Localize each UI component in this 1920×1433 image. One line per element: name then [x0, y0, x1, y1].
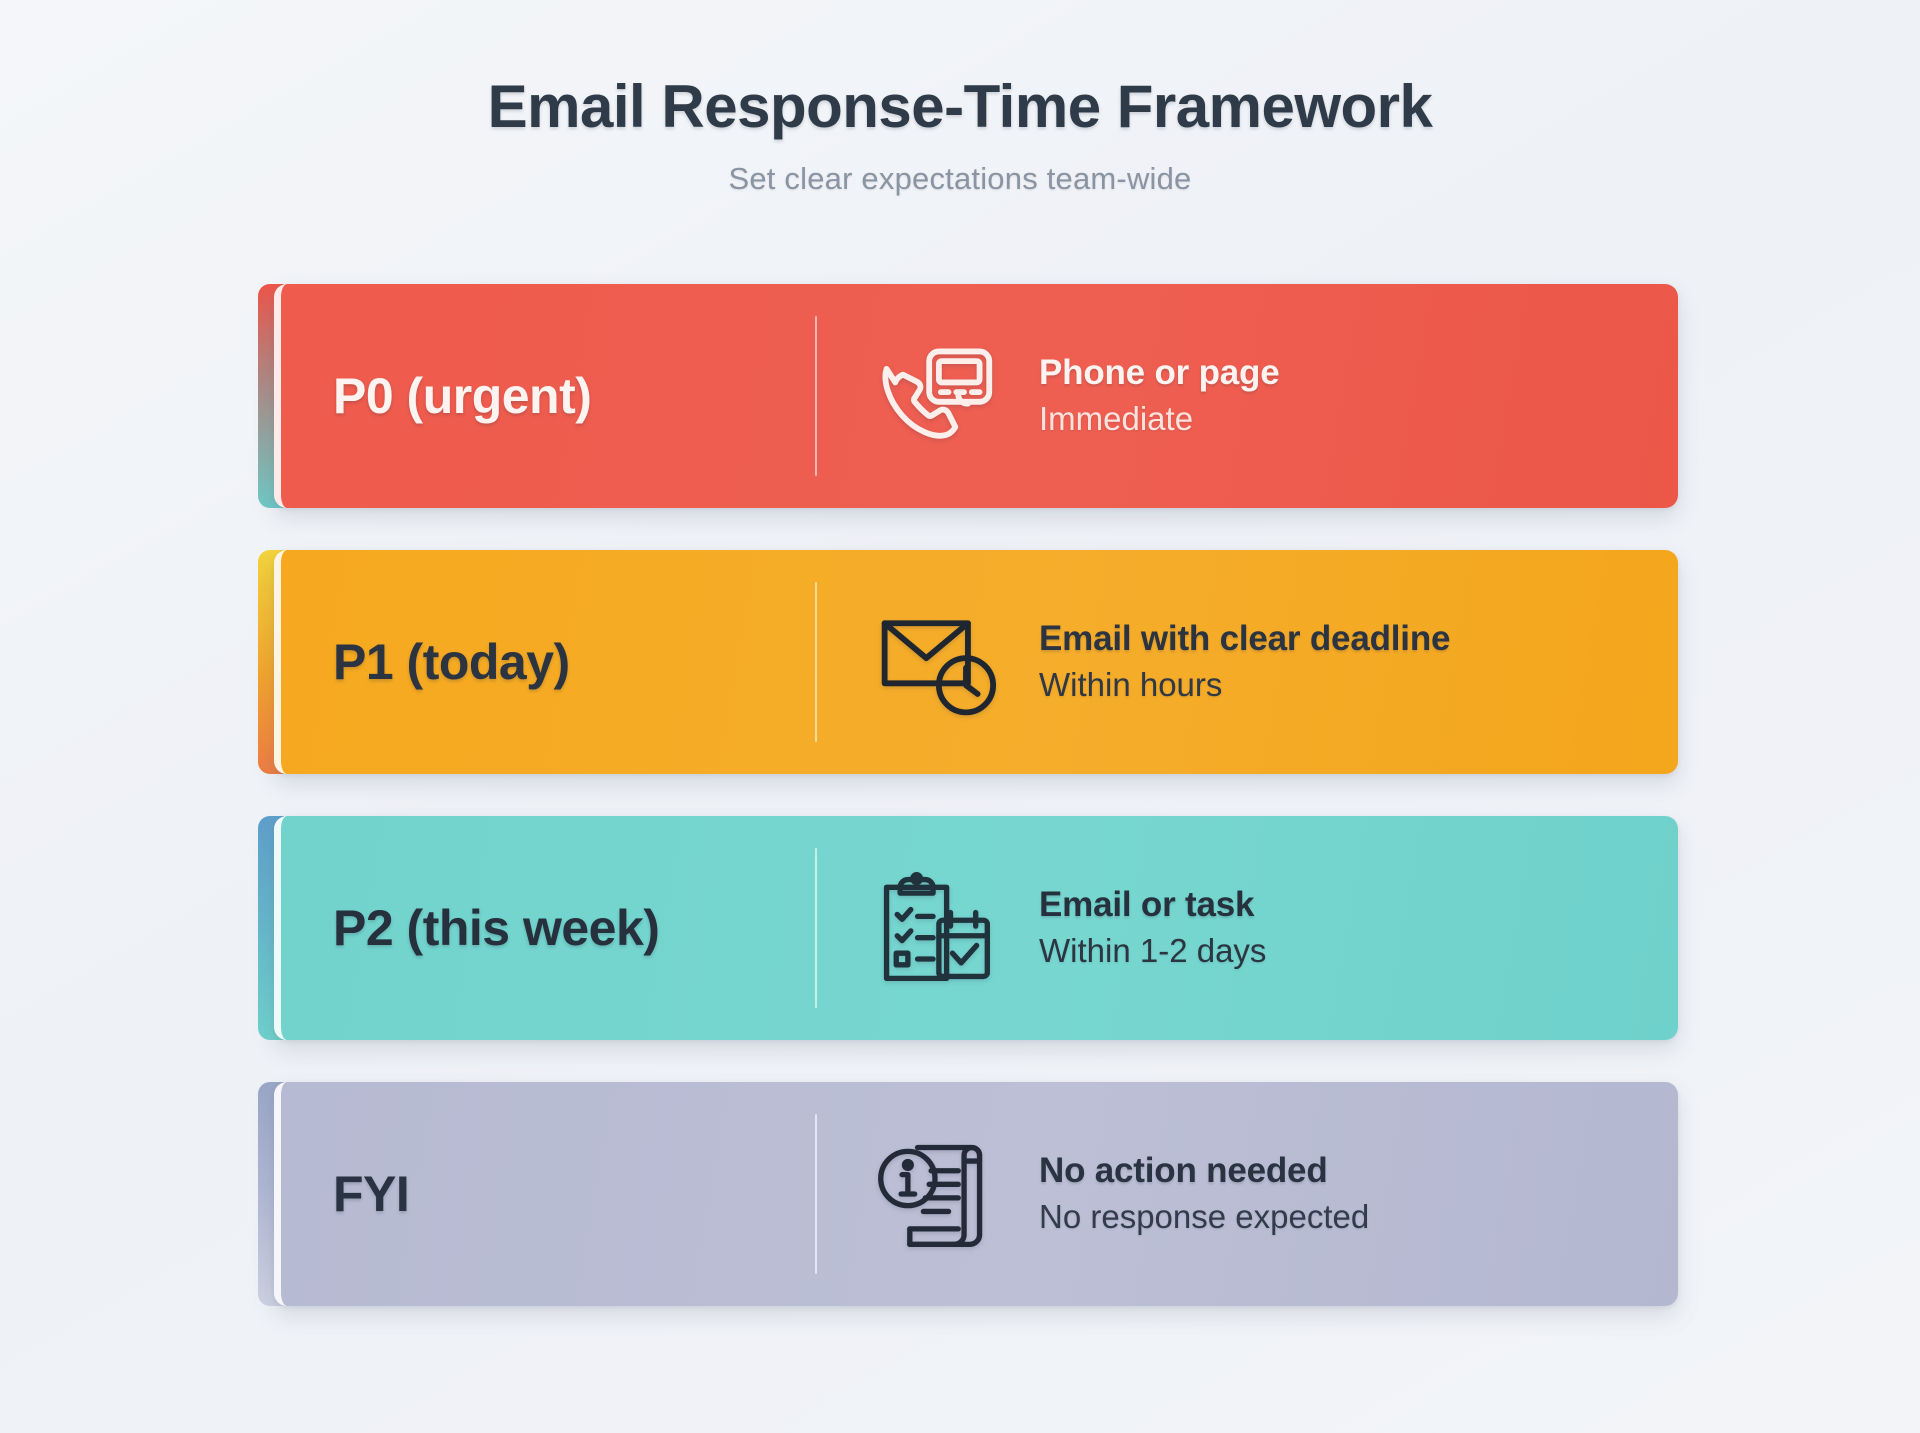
priority-card-list: P0 (urgent) [258, 284, 1678, 1348]
priority-label-cell: P0 (urgent) [281, 371, 815, 421]
priority-card-body-p1[interactable]: P1 (today) [274, 550, 1678, 774]
priority-label-cell: P2 (this week) [281, 903, 815, 953]
priority-card-fyi[interactable]: FYI [258, 1082, 1678, 1306]
priority-label-cell: FYI [281, 1169, 815, 1219]
infographic-canvas: Email Response-Time Framework Set clear … [0, 0, 1920, 1433]
channel-label: No action needed [1039, 1149, 1369, 1193]
priority-label-cell: P1 (today) [281, 637, 815, 687]
priority-card-body-fyi[interactable]: FYI [274, 1082, 1678, 1306]
priority-detail-cell: Email or task Within 1-2 days [817, 862, 1678, 994]
priority-card-body-p2[interactable]: P2 (this week) [274, 816, 1678, 1040]
timing-label: Immediate [1039, 398, 1280, 441]
priority-detail-cell: Phone or page Immediate [817, 330, 1678, 462]
channel-label: Email or task [1039, 883, 1266, 927]
channel-label: Phone or page [1039, 351, 1280, 395]
timing-label: No response expected [1039, 1196, 1369, 1239]
clipboard-calendar-icon [869, 862, 1001, 994]
priority-card-p0[interactable]: P0 (urgent) [258, 284, 1678, 508]
timing-label: Within 1-2 days [1039, 930, 1266, 973]
priority-text-column: Email with clear deadline Within hours [1001, 617, 1450, 708]
priority-text-column: Phone or page Immediate [1001, 351, 1280, 442]
page-subtitle: Set clear expectations team-wide [0, 161, 1920, 197]
channel-label: Email with clear deadline [1039, 617, 1450, 661]
info-scroll-icon [869, 1128, 1001, 1260]
phone-pager-icon [869, 330, 1001, 462]
priority-card-p1[interactable]: P1 (today) [258, 550, 1678, 774]
priority-label: FYI [333, 1169, 815, 1219]
page-title: Email Response-Time Framework [0, 72, 1920, 141]
priority-text-column: Email or task Within 1-2 days [1001, 883, 1266, 974]
priority-card-p2[interactable]: P2 (this week) [258, 816, 1678, 1040]
priority-detail-cell: No action needed No response expected [817, 1128, 1678, 1260]
priority-text-column: No action needed No response expected [1001, 1149, 1369, 1240]
priority-label: P0 (urgent) [333, 371, 815, 421]
header: Email Response-Time Framework Set clear … [0, 72, 1920, 197]
priority-label: P1 (today) [333, 637, 815, 687]
priority-label: P2 (this week) [333, 903, 815, 953]
priority-detail-cell: Email with clear deadline Within hours [817, 596, 1678, 728]
timing-label: Within hours [1039, 664, 1450, 707]
priority-card-body-p0[interactable]: P0 (urgent) [274, 284, 1678, 508]
envelope-clock-icon [869, 596, 1001, 728]
